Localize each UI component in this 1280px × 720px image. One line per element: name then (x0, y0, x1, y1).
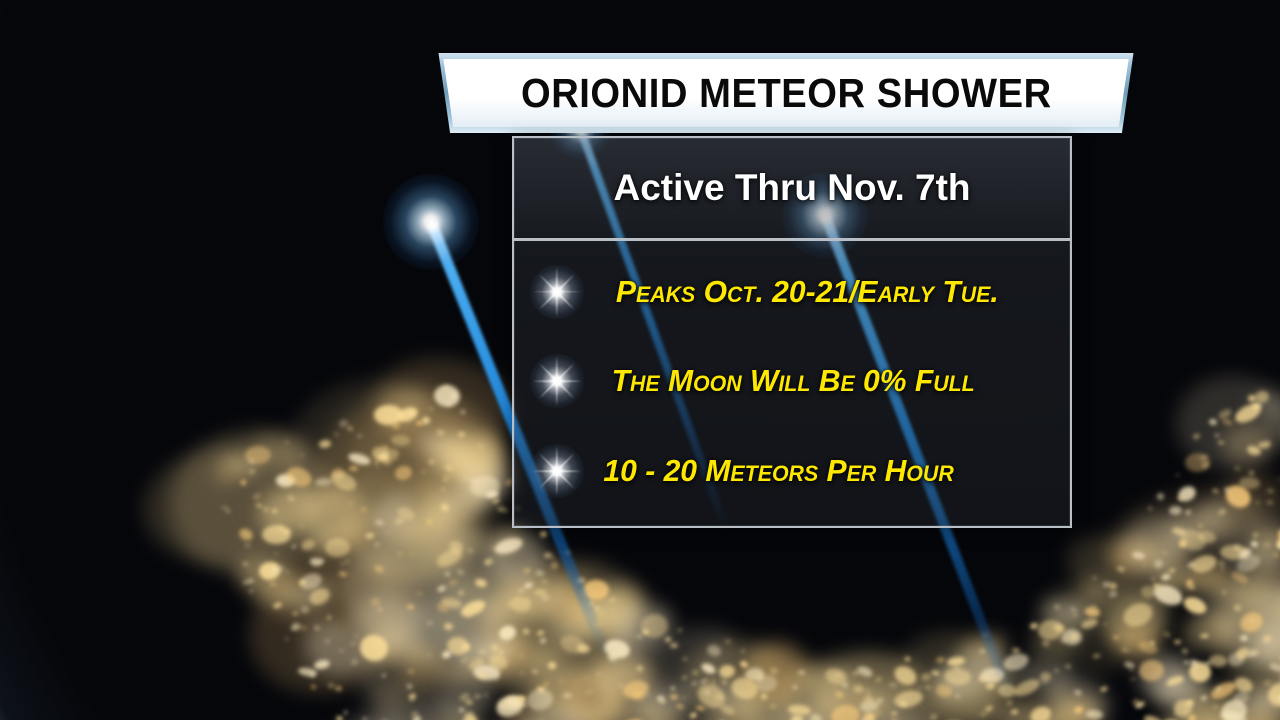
title-banner: ORIONID METEOR SHOWER (424, 53, 1148, 133)
panel-header-text: Active Thru Nov. 7th (613, 167, 970, 209)
info-panel: Active Thru Nov. 7th Peaks Oct. 20-21/Ea… (512, 136, 1072, 528)
fact-text: The Moon Will Be 0% Full (612, 363, 975, 399)
fact-row: The Moon Will Be 0% Full (514, 338, 1070, 424)
fact-row: 10 - 20 Meteors Per Hour (514, 428, 1070, 514)
fact-text: 10 - 20 Meteors Per Hour (603, 453, 953, 489)
panel-body: Peaks Oct. 20-21/Early Tue. The Moon Wil… (514, 241, 1070, 526)
banner-face: ORIONID METEOR SHOWER (432, 59, 1140, 127)
graphic-stage: ORIONID METEOR SHOWER Active Thru Nov. 7… (0, 0, 1280, 720)
star-icon (530, 444, 584, 498)
panel-header: Active Thru Nov. 7th (514, 138, 1070, 241)
fact-text: Peaks Oct. 20-21/Early Tue. (616, 274, 999, 310)
star-icon (530, 354, 584, 408)
page-title: ORIONID METEOR SHOWER (521, 70, 1052, 117)
fact-row: Peaks Oct. 20-21/Early Tue. (514, 249, 1070, 335)
star-icon (530, 265, 584, 319)
